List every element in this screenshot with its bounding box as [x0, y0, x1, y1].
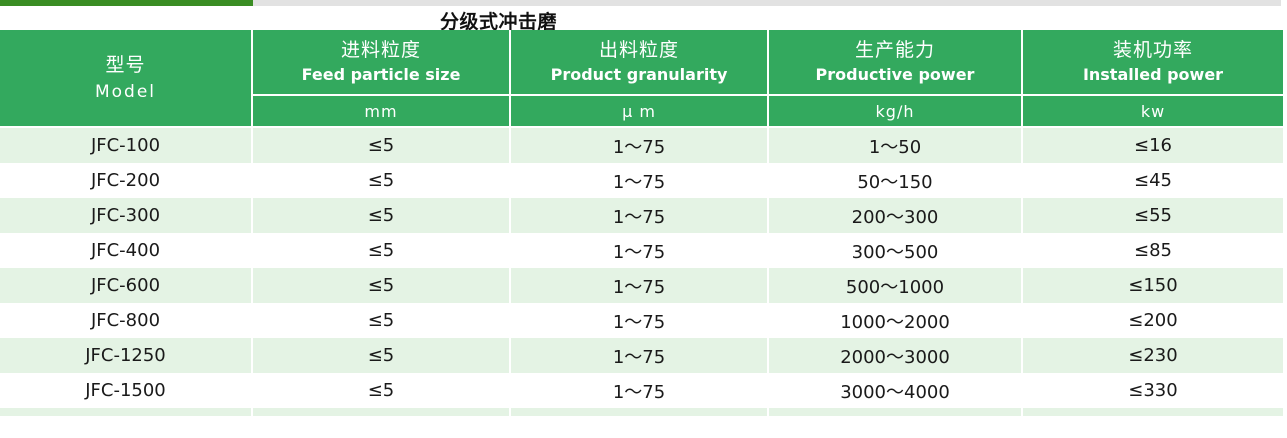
cell-capacity: 3000～4000 — [768, 373, 1022, 408]
table-header-row-titles: 型号 Model 进料粒度 Feed particle size 出料粒度 Pr… — [0, 30, 1283, 95]
column-unit-feed-label: mm — [253, 102, 509, 121]
cell-power: ≤200 — [1022, 303, 1283, 338]
table-row: JFC-600 ≤5 1～75 500～1000 ≤150 — [0, 268, 1283, 303]
column-header-feed-cn: 进料粒度 — [253, 38, 509, 64]
cell-feed: ≤5 — [252, 373, 510, 408]
cell-feed: ≤5 — [252, 303, 510, 338]
cell-granularity: 1～75 — [510, 198, 768, 233]
cell-partial — [0, 408, 252, 416]
column-unit-capacity-label: kg/h — [769, 102, 1021, 121]
cell-feed: ≤5 — [252, 338, 510, 373]
column-header-model: 型号 Model — [0, 30, 252, 127]
cell-granularity: 1～75 — [510, 268, 768, 303]
spec-table-body: 型号 Model 进料粒度 Feed particle size 出料粒度 Pr… — [0, 30, 1283, 416]
cell-capacity: 500～1000 — [768, 268, 1022, 303]
cell-partial — [768, 408, 1022, 416]
column-header-productive-power: 生产能力 Productive power — [768, 30, 1022, 95]
cell-feed: ≤5 — [252, 233, 510, 268]
table-row: JFC-100 ≤5 1～75 1～50 ≤16 — [0, 127, 1283, 163]
column-header-capacity-cn: 生产能力 — [769, 38, 1021, 64]
column-unit-feed: mm — [252, 95, 510, 127]
cell-model: JFC-400 — [0, 233, 252, 268]
cell-power: ≤230 — [1022, 338, 1283, 373]
table-row: JFC-1250 ≤5 1～75 2000～3000 ≤230 — [0, 338, 1283, 373]
cell-model: JFC-600 — [0, 268, 252, 303]
cell-capacity: 1～50 — [768, 127, 1022, 163]
column-header-feed-particle-size: 进料粒度 Feed particle size — [252, 30, 510, 95]
cell-capacity: 200～300 — [768, 198, 1022, 233]
cell-model: JFC-1500 — [0, 373, 252, 408]
column-header-model-en: Model — [0, 80, 251, 106]
title-bar: 分级式冲击磨 — [0, 6, 1287, 30]
cell-granularity: 1～75 — [510, 303, 768, 338]
column-header-power-en: Installed power — [1023, 64, 1283, 86]
column-unit-granularity-label: μ m — [511, 102, 767, 121]
cell-feed: ≤5 — [252, 127, 510, 163]
table-row: JFC-800 ≤5 1～75 1000～2000 ≤200 — [0, 303, 1283, 338]
cell-granularity: 1～75 — [510, 373, 768, 408]
column-header-product-granularity: 出料粒度 Product granularity — [510, 30, 768, 95]
cell-power: ≤85 — [1022, 233, 1283, 268]
cell-power: ≤330 — [1022, 373, 1283, 408]
column-header-installed-power: 装机功率 Installed power — [1022, 30, 1283, 95]
column-header-model-cn: 型号 — [0, 51, 251, 80]
cell-granularity: 1～75 — [510, 127, 768, 163]
column-header-feed-en: Feed particle size — [253, 64, 509, 86]
cell-granularity: 1～75 — [510, 163, 768, 198]
spec-table: 型号 Model 进料粒度 Feed particle size 出料粒度 Pr… — [0, 30, 1283, 416]
cell-feed: ≤5 — [252, 268, 510, 303]
column-unit-granularity: μ m — [510, 95, 768, 127]
cell-model: JFC-200 — [0, 163, 252, 198]
cell-capacity: 300～500 — [768, 233, 1022, 268]
cell-capacity: 50～150 — [768, 163, 1022, 198]
column-unit-capacity: kg/h — [768, 95, 1022, 127]
cell-capacity: 2000～3000 — [768, 338, 1022, 373]
cell-granularity: 1～75 — [510, 338, 768, 373]
cell-partial — [1022, 408, 1283, 416]
cell-granularity: 1～75 — [510, 233, 768, 268]
column-header-granularity-cn: 出料粒度 — [511, 38, 767, 64]
cell-partial — [510, 408, 768, 416]
column-unit-power-label: kw — [1023, 102, 1283, 121]
cell-partial — [252, 408, 510, 416]
column-header-capacity-en: Productive power — [769, 64, 1021, 86]
table-row: JFC-200 ≤5 1～75 50～150 ≤45 — [0, 163, 1283, 198]
cell-model: JFC-1250 — [0, 338, 252, 373]
cell-model: JFC-800 — [0, 303, 252, 338]
spec-table-container: 型号 Model 进料粒度 Feed particle size 出料粒度 Pr… — [0, 30, 1283, 416]
column-header-power-cn: 装机功率 — [1023, 38, 1283, 64]
cell-model: JFC-100 — [0, 127, 252, 163]
cell-feed: ≤5 — [252, 163, 510, 198]
cell-power: ≤45 — [1022, 163, 1283, 198]
cell-capacity: 1000～2000 — [768, 303, 1022, 338]
column-unit-power: kw — [1022, 95, 1283, 127]
table-row: JFC-400 ≤5 1～75 300～500 ≤85 — [0, 233, 1283, 268]
cell-power: ≤16 — [1022, 127, 1283, 163]
cell-power: ≤150 — [1022, 268, 1283, 303]
cell-feed: ≤5 — [252, 198, 510, 233]
table-row: JFC-300 ≤5 1～75 200～300 ≤55 — [0, 198, 1283, 233]
column-header-granularity-en: Product granularity — [511, 64, 767, 86]
cell-model: JFC-300 — [0, 198, 252, 233]
cell-power: ≤55 — [1022, 198, 1283, 233]
table-row: JFC-1500 ≤5 1～75 3000～4000 ≤330 — [0, 373, 1283, 408]
table-row-partial-clipped — [0, 408, 1283, 416]
